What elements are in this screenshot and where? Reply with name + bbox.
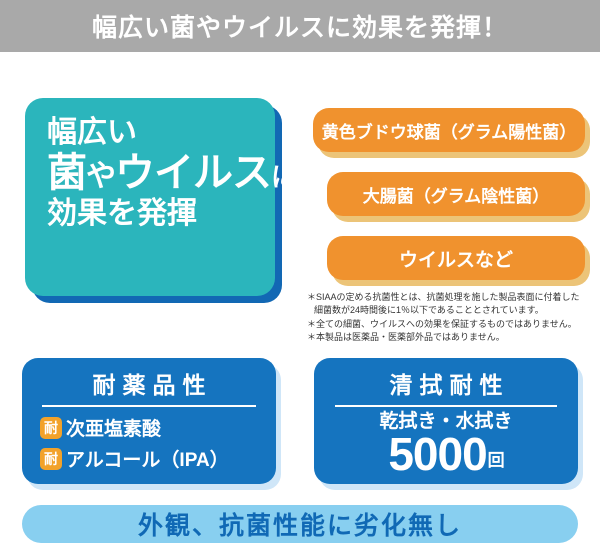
footnote-line-2: 細菌数が24時間後に1％以下であることとされています。	[307, 304, 595, 317]
hero-panel: 幅広い 菌やウイルスに 効果を発揮	[25, 98, 275, 296]
hero-line-2-ya: や	[86, 160, 115, 193]
target-pill-3: ウイルスなど	[327, 236, 585, 280]
hero-line-2-virus: ウイルス	[115, 151, 271, 195]
chemical-item-label: アルコール（IPA）	[66, 445, 229, 472]
target-pill-2-label: 大腸菌（グラム陰性菌）	[327, 172, 585, 216]
footnote-line-1: ＊SIAAの定める抗菌性とは、抗菌処理を施した製品表面に付着した	[307, 291, 595, 304]
hero-line-2-ni: に	[271, 162, 296, 192]
header-title: 幅広い菌やウイルスに効果を発揮！	[92, 8, 508, 44]
target-pill-2: 大腸菌（グラム陰性菌）	[327, 172, 585, 216]
target-pill-1: 黄色ブドウ球菌（グラム陽性菌）	[313, 108, 585, 152]
wipe-count-unit: 回	[488, 451, 504, 470]
chemical-resistance-list: 耐 次亜塩素酸 耐 アルコール（IPA）	[22, 407, 276, 472]
footnote-line-3: ＊全ての細菌、ウイルスへの効果を保証するものではありません。	[307, 318, 595, 331]
hero-line-2: 菌やウイルスに	[47, 150, 275, 197]
target-pill-1-label: 黄色ブドウ球菌（グラム陽性菌）	[313, 108, 585, 152]
infographic-page: 幅広い菌やウイルスに効果を発揮！ 幅広い 菌やウイルスに 効果を発揮 黄色ブドウ…	[0, 0, 600, 558]
hero-line-1: 幅広い	[47, 116, 275, 150]
wipe-durability-content: 乾拭き・水拭き 5000回	[314, 407, 578, 477]
wipe-durability-panel-body: 清拭耐性 乾拭き・水拭き 5000回	[314, 358, 578, 484]
chemical-item: 耐 次亜塩素酸	[40, 414, 276, 441]
wipe-durability-panel: 清拭耐性 乾拭き・水拭き 5000回	[314, 358, 578, 484]
wipe-count-number: 5000	[388, 428, 486, 480]
chemical-item-label: 次亜塩素酸	[66, 414, 161, 441]
chemical-resistance-panel: 耐薬品性 耐 次亜塩素酸 耐 アルコール（IPA）	[22, 358, 276, 484]
chemical-item: 耐 アルコール（IPA）	[40, 445, 276, 472]
chemical-resistance-panel-body: 耐薬品性 耐 次亜塩素酸 耐 アルコール（IPA）	[22, 358, 276, 484]
resistance-badge-icon: 耐	[40, 448, 62, 470]
target-pill-3-label: ウイルスなど	[327, 236, 585, 280]
header-bar: 幅広い菌やウイルスに効果を発揮！	[0, 0, 600, 52]
resistance-badge-icon: 耐	[40, 417, 62, 439]
wipe-durability-title: 清拭耐性	[314, 358, 578, 400]
bottom-banner-text: 外観、抗菌性能に劣化無し	[138, 506, 462, 542]
footnotes: ＊SIAAの定める抗菌性とは、抗菌処理を施した製品表面に付着した 細菌数が24時…	[307, 291, 595, 344]
hero-line-2-kin: 菌	[47, 151, 86, 195]
chemical-resistance-title: 耐薬品性	[22, 358, 276, 400]
wipe-count-value-row: 5000回	[314, 431, 578, 477]
hero-line-3: 効果を発揮	[47, 197, 275, 232]
footnote-line-4: ＊本製品は医薬品・医薬部外品ではありません。	[307, 331, 595, 344]
bottom-banner: 外観、抗菌性能に劣化無し	[22, 505, 578, 543]
